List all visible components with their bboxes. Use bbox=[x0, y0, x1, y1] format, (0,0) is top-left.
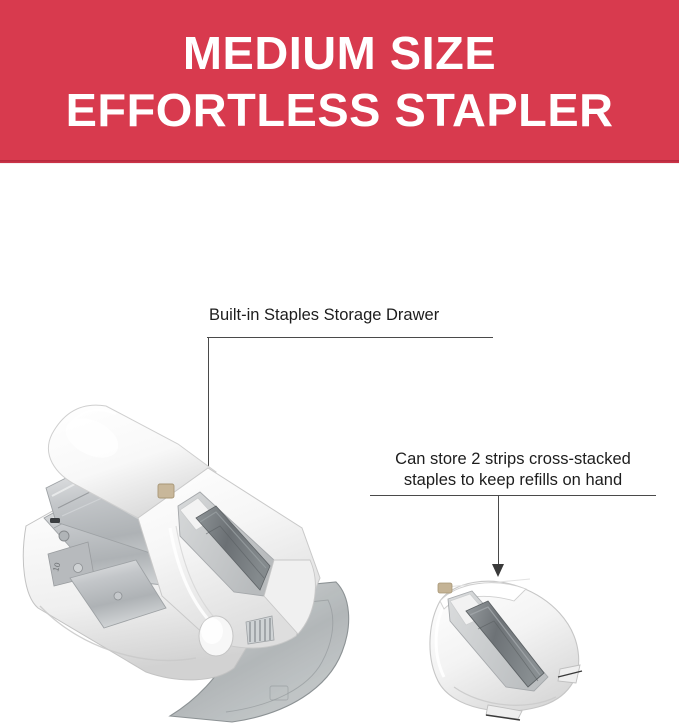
inset-vent-hole bbox=[438, 583, 452, 593]
banner-bottom-shadow bbox=[0, 160, 679, 164]
callout-label-storage-drawer: Built-in Staples Storage Drawer bbox=[209, 305, 439, 326]
drawer-closeup-illustration bbox=[410, 565, 610, 726]
stapler-illustration: 10 bbox=[20, 400, 370, 726]
product-photo-inset bbox=[410, 565, 610, 726]
banner-headline-line-1: MEDIUM SIZE bbox=[183, 30, 496, 76]
product-photo-main: 10 bbox=[20, 400, 370, 726]
callout-underline-strip-capacity bbox=[370, 495, 656, 496]
banner-headline-line-2: EFFORTLESS STAPLER bbox=[66, 87, 614, 133]
banner-text-block: MEDIUM SIZE EFFORTLESS STAPLER bbox=[0, 0, 679, 163]
callout-underline-storage-drawer bbox=[207, 337, 493, 338]
callout-leader-line-strip-capacity bbox=[498, 495, 499, 567]
vent-hole bbox=[158, 484, 174, 498]
header-banner: MEDIUM SIZE EFFORTLESS STAPLER bbox=[0, 0, 679, 163]
callout-label-strip-capacity: Can store 2 strips cross-stacked staples… bbox=[370, 449, 656, 491]
